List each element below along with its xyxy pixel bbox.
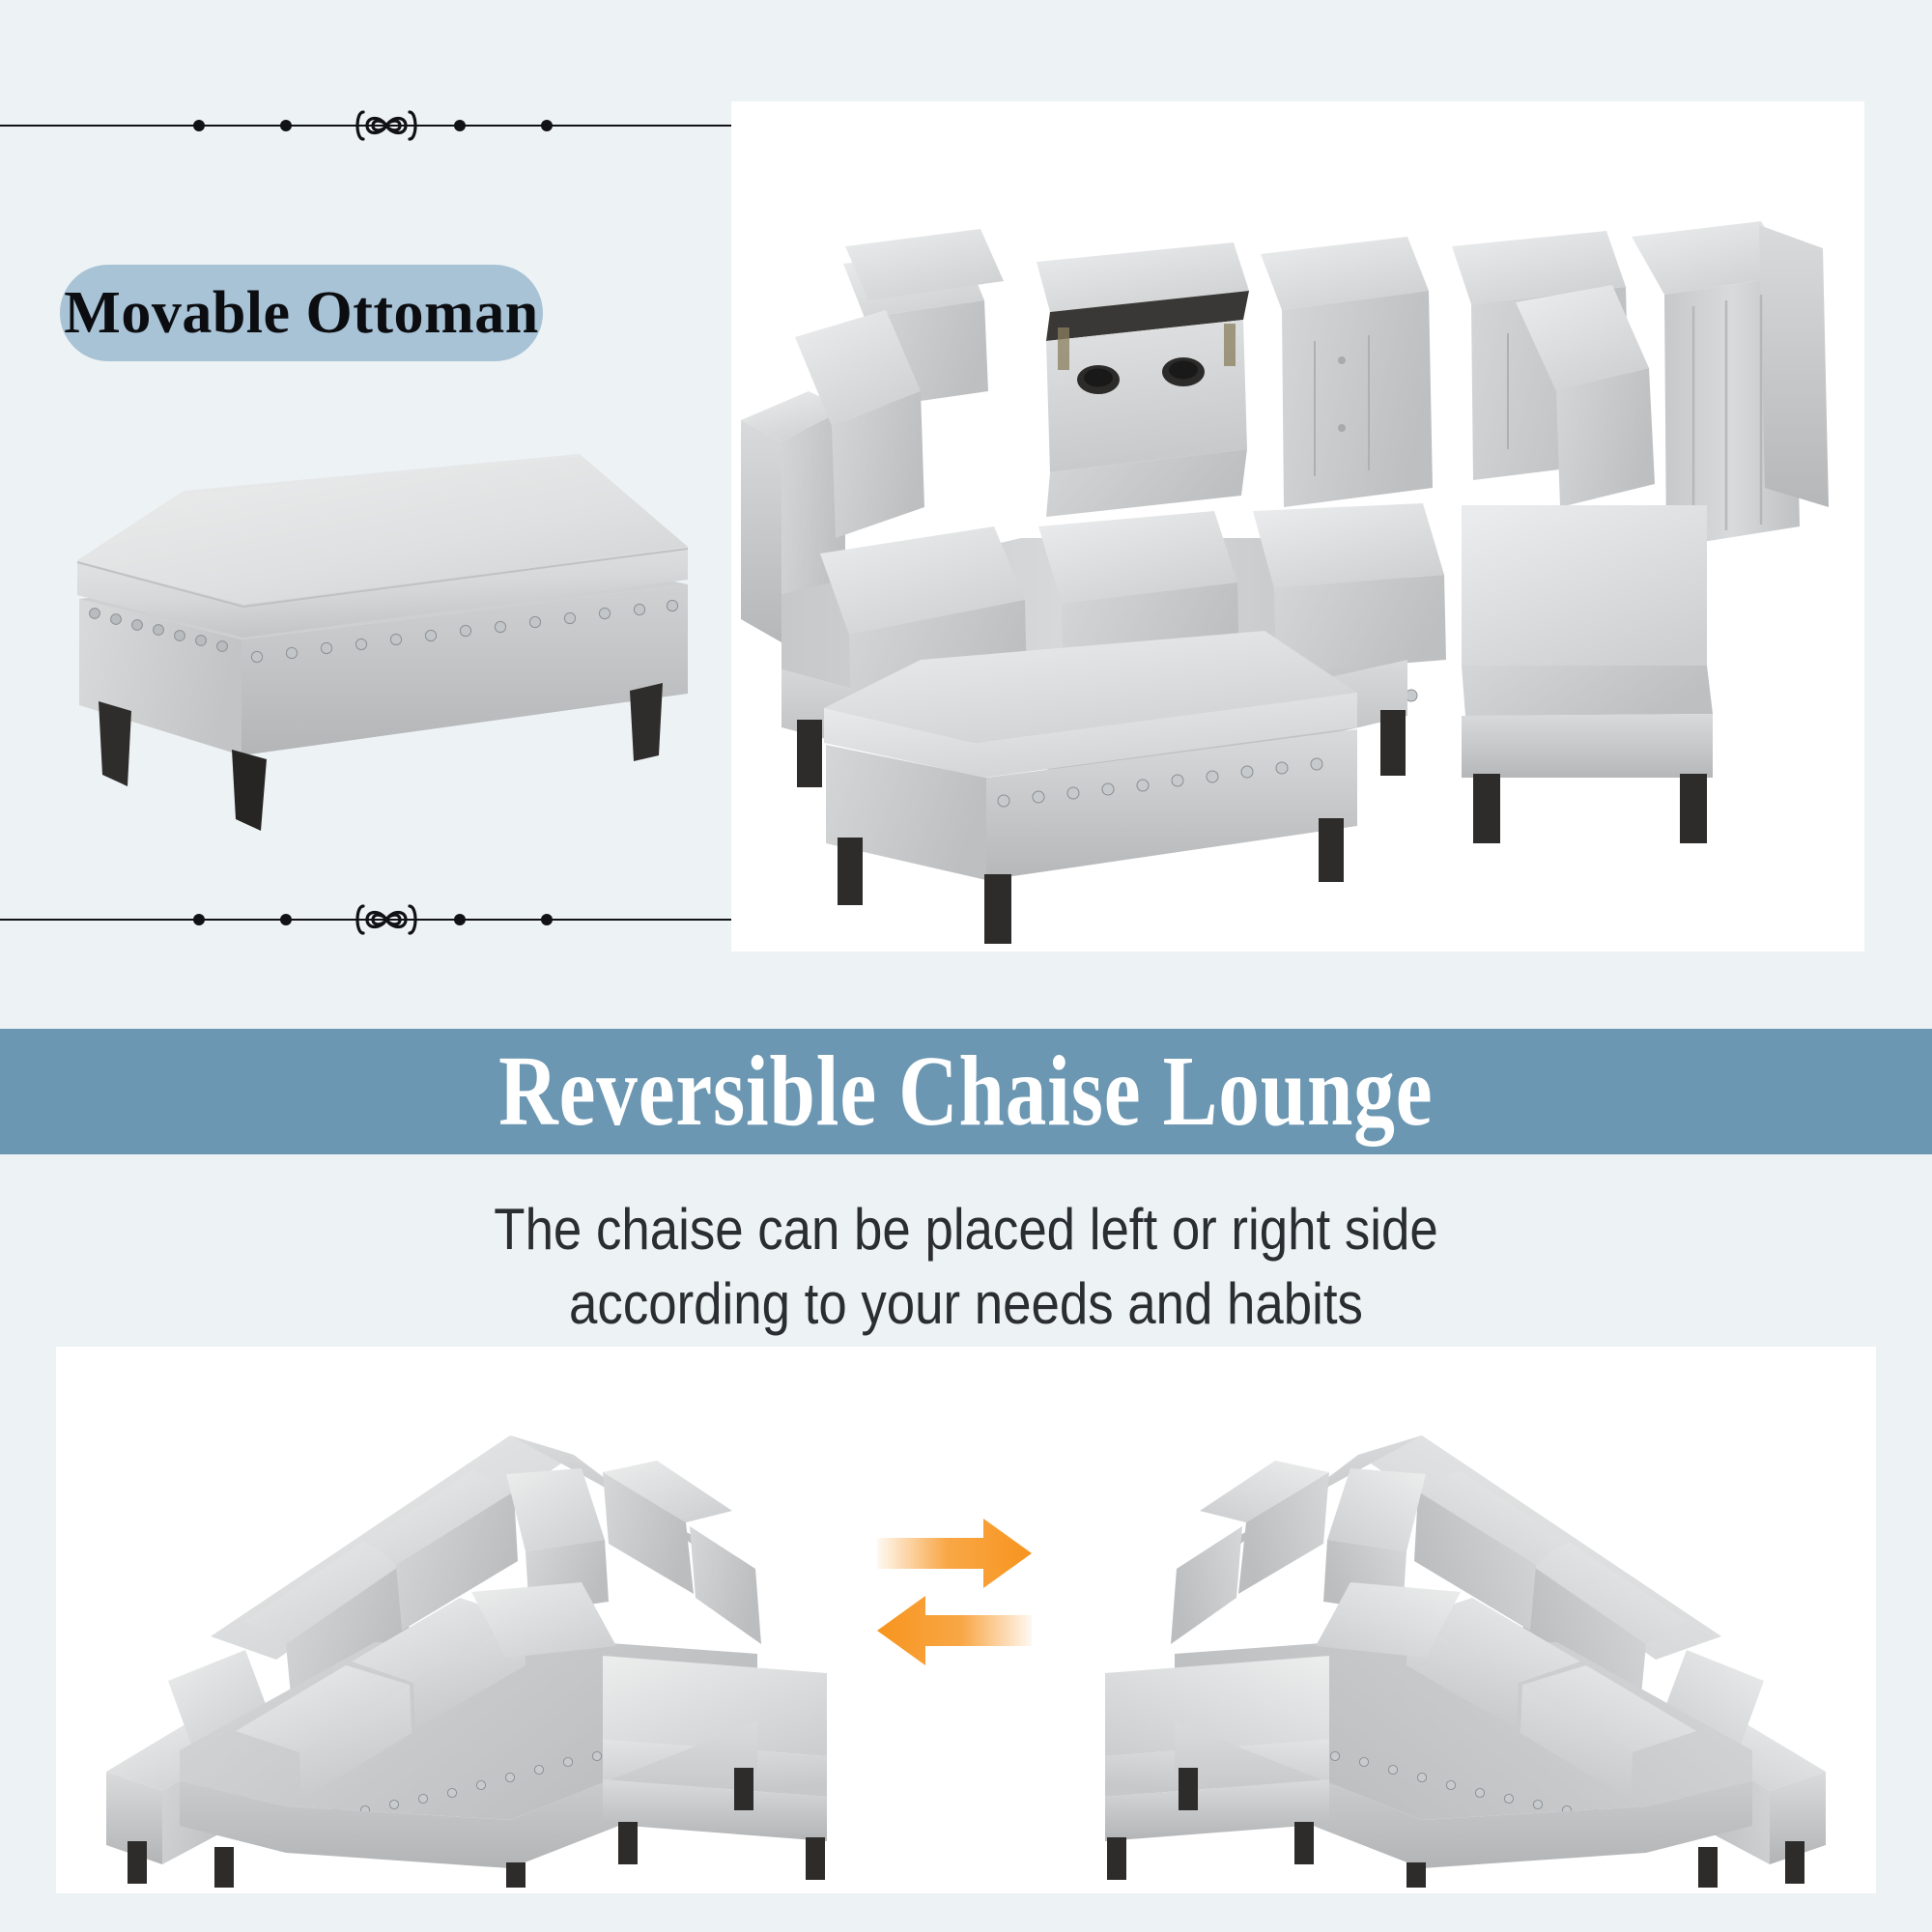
divider-top (0, 106, 734, 145)
sectional-sofa-illustration (731, 101, 1864, 952)
divider-dot (454, 120, 466, 131)
divider-dot (193, 120, 205, 131)
divider-dot (280, 914, 292, 925)
badge-label: Movable Ottoman (64, 283, 538, 343)
banner-title: Reversible Chaise Lounge (498, 1041, 1433, 1142)
subtitle-line-2: according to your needs and habits (116, 1267, 1816, 1342)
infographic-page: Movable Ottoman (0, 0, 1932, 1932)
subtitle-block: The chaise can be placed left or right s… (116, 1193, 1816, 1342)
divider-bottom (0, 900, 734, 939)
ornament-knot-icon (352, 104, 421, 147)
ottoman-illustration (39, 415, 715, 831)
divider-dot (454, 914, 466, 925)
sectional-sofa-photo-panel (731, 101, 1864, 952)
config-chaise-left-illustration (1007, 1347, 1876, 1888)
subtitle-line-1: The chaise can be placed left or right s… (116, 1193, 1816, 1267)
divider-dot (280, 120, 292, 131)
section-banner: Reversible Chaise Lounge (0, 1029, 1932, 1154)
divider-dot (541, 120, 553, 131)
movable-ottoman-badge: Movable Ottoman (60, 265, 543, 361)
reversible-config-photo-panel (56, 1347, 1876, 1893)
divider-dot (541, 914, 553, 925)
ornament-knot-icon (352, 898, 421, 941)
ottoman-photo (39, 415, 715, 831)
config-chaise-right-illustration (56, 1347, 925, 1888)
divider-dot (193, 914, 205, 925)
